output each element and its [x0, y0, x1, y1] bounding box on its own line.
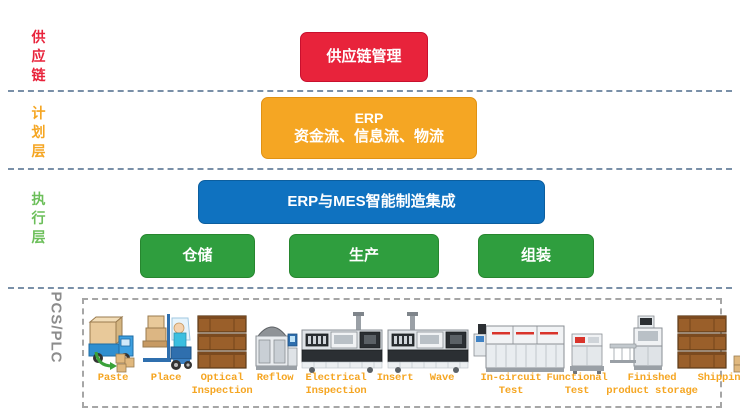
loading-truck-icon: [732, 310, 740, 374]
box-warehouse[interactable]: 仓储: [140, 234, 255, 278]
caption-finished-storage: Finished product storage: [606, 372, 698, 398]
station-finished-storage[interactable]: [674, 302, 732, 374]
box-warehouse-label: 仓储: [182, 246, 212, 266]
box-assembly-label: 组装: [521, 246, 551, 266]
caption-shipping: Shipping: [692, 372, 740, 385]
band-separator-supply-planning: [8, 90, 732, 92]
box-supply-chain-management-label: 供应链管理: [326, 47, 401, 67]
station-wave[interactable]: [472, 302, 568, 374]
forklift-icon: [138, 310, 194, 374]
reflow-oven-icon: [252, 312, 300, 374]
box-erp[interactable]: ERP 资金流、信息流、物流: [261, 97, 477, 159]
station-place[interactable]: [138, 302, 194, 374]
station-optical-inspection[interactable]: [194, 302, 252, 374]
architecture-diagram: 供 应 链 计 划 层 执 行 层 PCS/PLC 供应链管理 ERP 资金流、…: [0, 0, 740, 417]
box-supply-chain-management[interactable]: 供应链管理: [300, 32, 428, 82]
station-electrical-inspection[interactable]: [300, 302, 386, 374]
band-separator-execution-pcs: [8, 287, 732, 289]
stacked-crates-icon: [674, 312, 732, 374]
box-erp-mes-integration-label: ERP与MES智能制造集成: [287, 192, 455, 212]
production-line-icons: [86, 302, 718, 374]
test-bench-icon: [568, 312, 608, 374]
delivery-truck-icon: [86, 314, 138, 374]
caption-in-circuit-test: In-circuit Test: [476, 372, 546, 398]
stacked-crates-icon: [194, 312, 252, 374]
band-label-planning: 计 划 层: [26, 104, 52, 161]
caption-optical-inspection: Optical Inspection: [190, 372, 254, 398]
station-shipping[interactable]: [732, 302, 740, 374]
box-production[interactable]: 生产: [289, 234, 439, 278]
wave-solder-icon: [472, 308, 568, 374]
box-assembly[interactable]: 组装: [478, 234, 594, 278]
band-label-supply-chain: 供 应 链: [26, 28, 52, 85]
station-paste[interactable]: [86, 302, 138, 374]
smt-machine-icon: [300, 308, 386, 374]
box-production-label: 生产: [349, 246, 379, 266]
box-erp-mes-integration[interactable]: ERP与MES智能制造集成: [198, 180, 545, 224]
production-line-captions: Paste Place Optical Inspection Reflow El…: [86, 372, 726, 414]
band-label-pcs-plc: PCS/PLC: [47, 288, 66, 368]
caption-functional-test: Functional Test: [544, 372, 610, 398]
caption-reflow: Reflow: [249, 372, 301, 385]
functional-test-icon: [608, 310, 674, 374]
box-erp-title: ERP: [355, 109, 384, 127]
caption-paste: Paste: [86, 372, 140, 385]
band-separator-planning-execution: [8, 168, 732, 170]
caption-electrical-inspection: Electrical Inspection: [300, 372, 372, 398]
caption-place: Place: [138, 372, 194, 385]
station-in-circuit-test[interactable]: [568, 302, 608, 374]
station-insert[interactable]: [386, 302, 472, 374]
box-erp-subtitle: 资金流、信息流、物流: [294, 127, 444, 147]
station-functional-test[interactable]: [608, 302, 674, 374]
caption-insert: Insert: [370, 372, 420, 385]
station-reflow[interactable]: [252, 302, 300, 374]
caption-wave: Wave: [416, 372, 468, 385]
smt-machine-icon: [386, 308, 472, 374]
band-label-execution: 执 行 层: [26, 190, 52, 247]
